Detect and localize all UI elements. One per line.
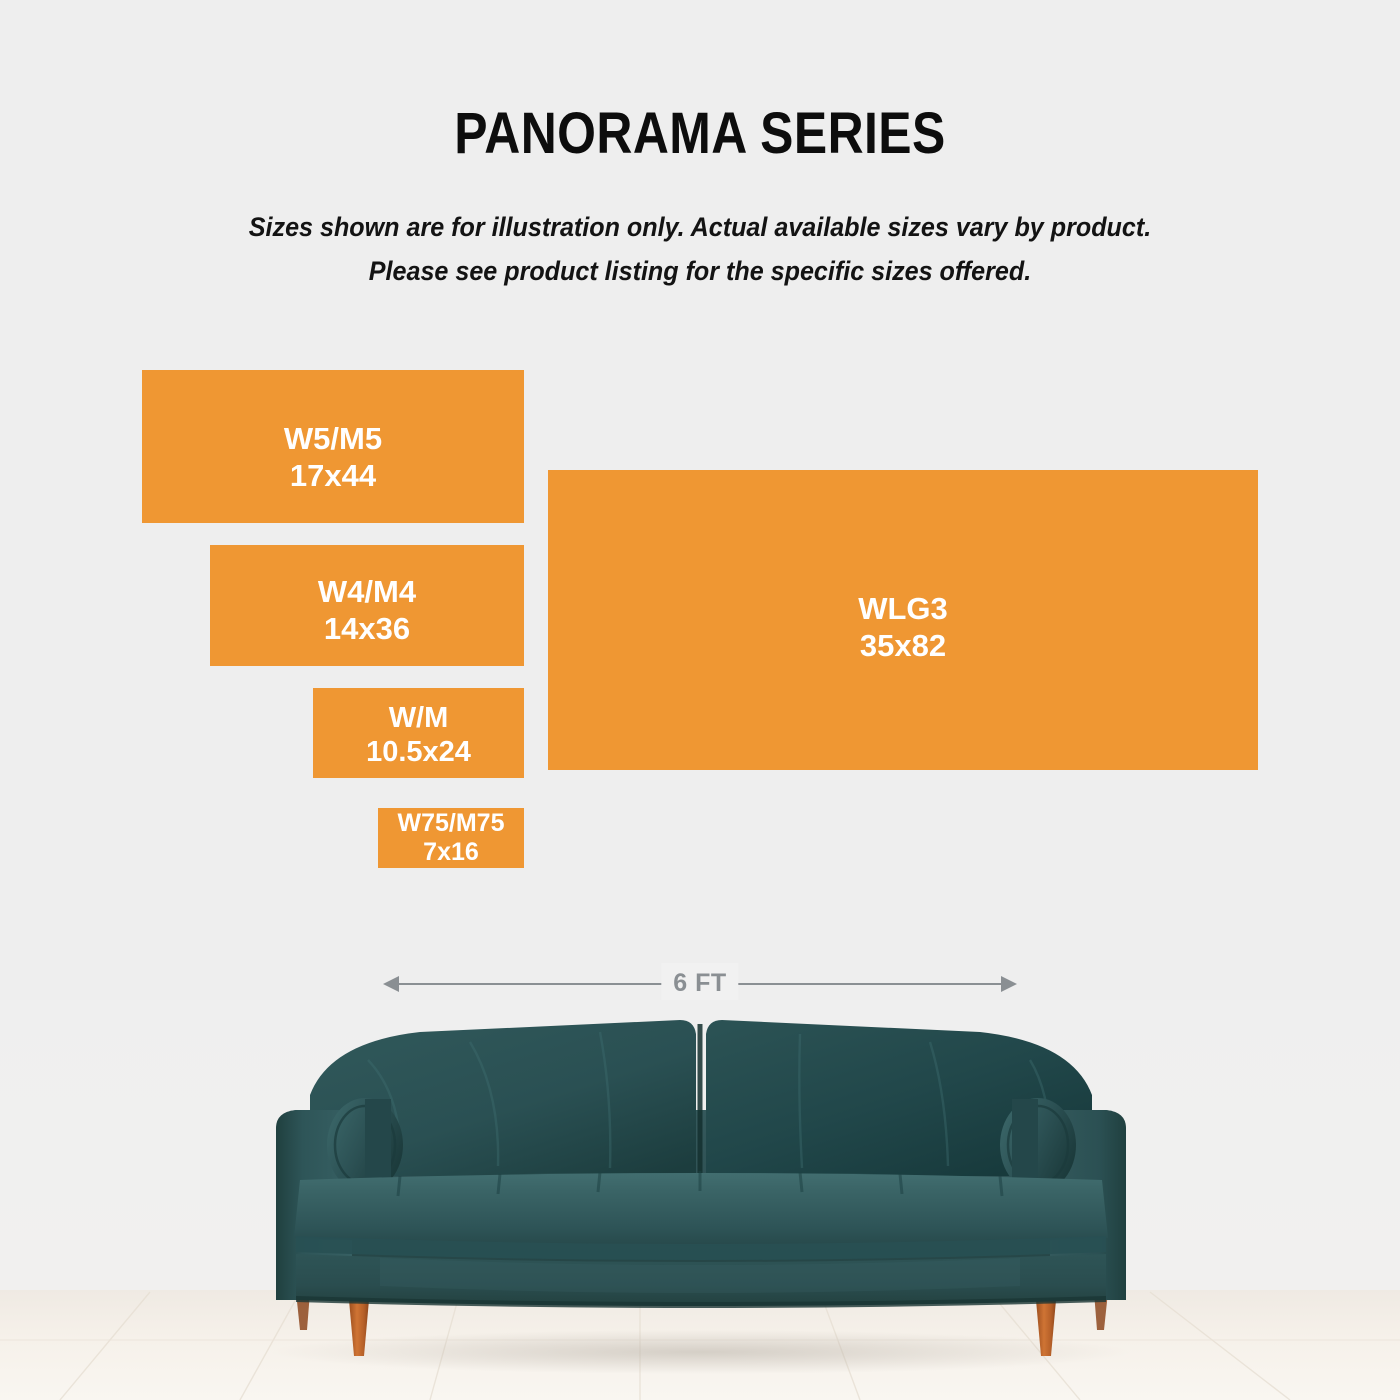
- size-box-dims: 14x36: [318, 611, 416, 648]
- floor-shadow: [270, 1330, 1130, 1374]
- size-box-code: W4/M4: [318, 574, 416, 611]
- page-subtitle: Sizes shown are for illustration only. A…: [49, 205, 1351, 293]
- size-box-dims: 17x44: [284, 458, 382, 495]
- subtitle-line-1: Sizes shown are for illustration only. A…: [49, 205, 1351, 249]
- size-box-dims: 10.5x24: [366, 735, 471, 769]
- size-box-code: W5/M5: [284, 421, 382, 458]
- size-box-code: W/M: [366, 701, 471, 735]
- size-comparison-infographic: PANORAMA SERIES Sizes shown are for illu…: [0, 0, 1400, 1400]
- size-box-dims: 35x82: [858, 628, 948, 665]
- dimension-label: 6 FT: [661, 963, 738, 1005]
- size-box-wm: W/M 10.5x24: [313, 688, 524, 778]
- page-title: PANORAMA SERIES: [98, 100, 1302, 167]
- size-box-dims: 7x16: [398, 838, 505, 868]
- size-box-w4m4: W4/M4 14x36: [210, 545, 524, 666]
- sofa-illustration: [0, 1000, 1400, 1400]
- subtitle-line-2: Please see product listing for the speci…: [49, 249, 1351, 293]
- size-box-code: WLG3: [858, 591, 948, 628]
- size-box-w75m75: W75/M75 7x16: [378, 808, 524, 868]
- arrow-head-left-icon: [383, 976, 399, 992]
- sofa-scene: [0, 1000, 1400, 1400]
- size-box-wlg3: WLG3 35x82: [548, 470, 1258, 770]
- size-box-w5m5: W5/M5 17x44: [142, 370, 524, 523]
- size-box-code: W75/M75: [398, 809, 505, 839]
- arrow-head-right-icon: [1001, 976, 1017, 992]
